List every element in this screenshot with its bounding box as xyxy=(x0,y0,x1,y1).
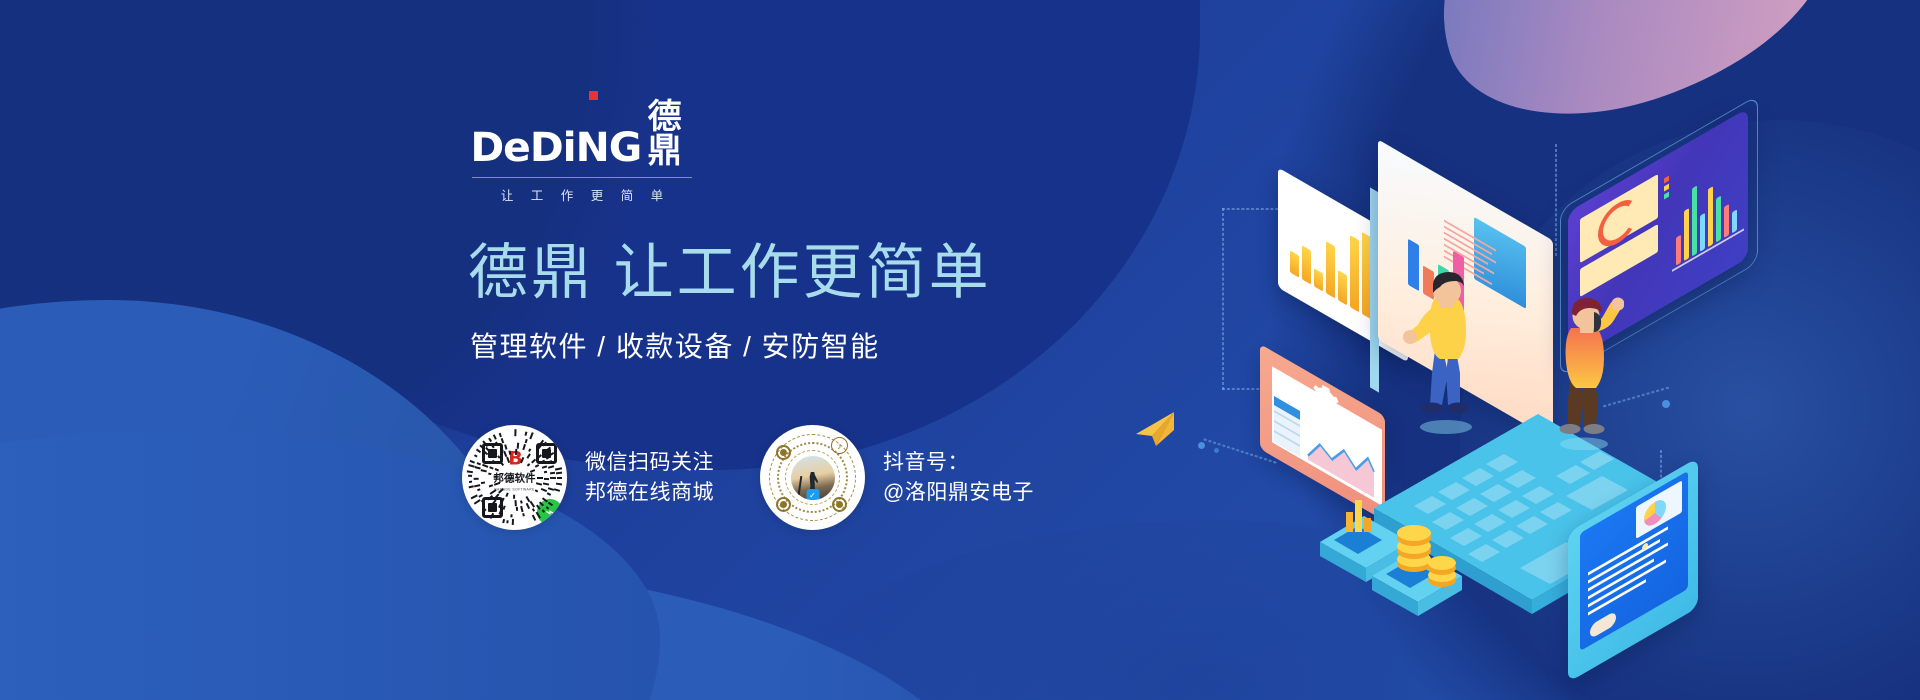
chart-bar xyxy=(1708,186,1713,247)
logo-accent-dot-icon xyxy=(589,91,598,100)
qr-module xyxy=(524,439,527,444)
qr-module xyxy=(555,467,562,470)
qr-module xyxy=(521,500,524,503)
decorative-dot xyxy=(1662,400,1670,408)
dashed-guide-line xyxy=(1555,144,1557,256)
chart-bar xyxy=(1684,208,1689,261)
qr-module xyxy=(476,488,480,491)
qr-module xyxy=(468,464,475,467)
legend-swatch xyxy=(1664,192,1669,200)
qr-locator-eye xyxy=(482,443,503,464)
qr-module xyxy=(537,477,543,479)
douyin-qr-code[interactable]: ✓ ♪ xyxy=(760,425,865,530)
qr-module xyxy=(556,471,562,473)
wechat-caption-line-2: 邦德在线商城 xyxy=(585,478,714,508)
isometric-data-dashboard-illustration xyxy=(1250,150,1670,570)
chart-bar xyxy=(1350,235,1359,312)
coin-stacks xyxy=(1310,480,1510,620)
wechat-qr-caption: 微信扫码关注 邦德在线商城 xyxy=(585,448,714,508)
qr-module xyxy=(475,466,481,469)
chart-bar xyxy=(1732,209,1737,233)
qr-module xyxy=(476,449,481,453)
paper-plane-icon xyxy=(1132,408,1176,448)
gear-icon xyxy=(1312,377,1340,421)
qr-module xyxy=(474,500,481,505)
qr-module xyxy=(477,462,481,465)
qr-locator-eye xyxy=(482,497,503,518)
logo-lockup: DeDiNG 德鼎 xyxy=(472,100,692,168)
hero-headline: 德鼎 让工作更简单 xyxy=(468,240,992,306)
douyin-qr-locator-dot xyxy=(832,497,847,512)
qr-module xyxy=(548,465,554,468)
qr-module xyxy=(556,483,562,486)
chart-bar xyxy=(1290,250,1299,277)
qr-module xyxy=(471,495,478,500)
qr-module xyxy=(541,488,547,492)
chart-bar xyxy=(1676,235,1681,266)
dashed-guide-line xyxy=(1222,208,1224,390)
qr-module xyxy=(524,432,527,436)
qr-module xyxy=(504,444,507,450)
wechat-caption-line-1: 微信扫码关注 xyxy=(585,448,714,478)
qr-module xyxy=(470,460,475,463)
qr-module xyxy=(512,519,514,525)
qr-block-douyin[interactable]: ✓ ♪ 抖音号： @洛阳鼎安电子 xyxy=(760,425,1034,530)
qr-module xyxy=(468,475,472,477)
chart-bar xyxy=(1724,204,1729,238)
qr-module xyxy=(550,471,555,473)
qr-module xyxy=(526,503,530,509)
decorative-dot xyxy=(1214,448,1219,453)
chart-bar xyxy=(1326,241,1335,298)
chart-bar xyxy=(1338,270,1347,305)
person-yellow-shirt xyxy=(1402,255,1488,435)
hiking-pole-icon xyxy=(798,475,802,494)
qr-module xyxy=(507,520,509,523)
brand-logo: DeDiNG 德鼎 让 工 作 更 简 单 xyxy=(472,100,692,204)
qr-module xyxy=(556,477,561,479)
music-note-icon: ♪ xyxy=(831,437,848,454)
douyin-caption-line-2: @洛阳鼎安电子 xyxy=(883,478,1034,508)
qr-module xyxy=(474,484,480,487)
hero-subheadline: 管理软件 / 收款设备 / 安防智能 xyxy=(470,325,880,365)
qr-module xyxy=(529,433,533,440)
person-orange-shirt xyxy=(1546,280,1624,450)
qr-module xyxy=(493,435,497,441)
qr-module xyxy=(515,430,517,437)
qr-module xyxy=(544,478,549,480)
qr-module xyxy=(469,481,472,483)
qr-module xyxy=(488,438,492,442)
qr-module xyxy=(480,469,486,472)
wechat-qr-code[interactable]: B 邦德软件 BANGDE SOFTWARE ⌁ xyxy=(462,425,567,530)
qr-module xyxy=(532,514,536,521)
chart-bar xyxy=(1716,196,1721,243)
qr-module xyxy=(494,476,498,478)
qr-module xyxy=(516,443,518,449)
logo-tagline: 让 工 作 更 简 单 xyxy=(472,185,692,204)
qr-module xyxy=(499,433,502,438)
promo-banner: DeDiNG 德鼎 让 工 作 更 简 单 德鼎 让工作更简单 管理软件 / 收… xyxy=(0,0,1920,700)
qr-module xyxy=(514,494,516,498)
chart-bar xyxy=(1700,213,1705,252)
qr-block-wechat[interactable]: B 邦德软件 BANGDE SOFTWARE ⌁ 微信扫码关注 邦德在线商城 xyxy=(462,425,714,530)
douyin-qr-locator-dot xyxy=(776,497,791,512)
qr-module xyxy=(505,493,508,498)
qr-module xyxy=(530,501,535,507)
douyin-qr-caption: 抖音号： @洛阳鼎安电子 xyxy=(883,448,1034,508)
chart-bar xyxy=(1314,268,1323,291)
qr-module xyxy=(473,455,477,458)
qr-module xyxy=(503,505,506,510)
qr-module xyxy=(520,505,523,511)
douyin-qr-locator-dot xyxy=(776,445,791,460)
douyin-avatar-photo: ✓ xyxy=(791,456,835,500)
qr-module xyxy=(547,493,551,496)
qr-module xyxy=(511,514,513,517)
qr-module xyxy=(468,486,473,489)
qr-module xyxy=(474,478,479,480)
qr-module xyxy=(516,507,518,511)
qr-module xyxy=(543,482,549,485)
qr-module xyxy=(502,519,505,523)
chart-bar xyxy=(1302,245,1311,284)
qr-module xyxy=(515,500,517,506)
legend-swatch xyxy=(1664,184,1669,192)
logo-wordmark: DeDiNG xyxy=(470,128,641,168)
qr-module xyxy=(467,470,473,473)
logo-wordmark-chinese: 德鼎 xyxy=(648,100,692,168)
decorative-dot xyxy=(1198,442,1205,449)
qr-module xyxy=(534,489,538,492)
qr-module xyxy=(488,472,492,474)
qr-module xyxy=(554,489,560,492)
logo-divider xyxy=(472,177,692,178)
legend-swatch xyxy=(1664,176,1669,184)
douyin-caption-line-1: 抖音号： xyxy=(883,448,1034,478)
qr-module xyxy=(550,477,556,479)
verified-badge-icon: ✓ xyxy=(806,489,819,500)
qr-locator-eye xyxy=(536,443,557,464)
qr-module xyxy=(522,513,524,517)
chart-bar xyxy=(1692,185,1697,256)
